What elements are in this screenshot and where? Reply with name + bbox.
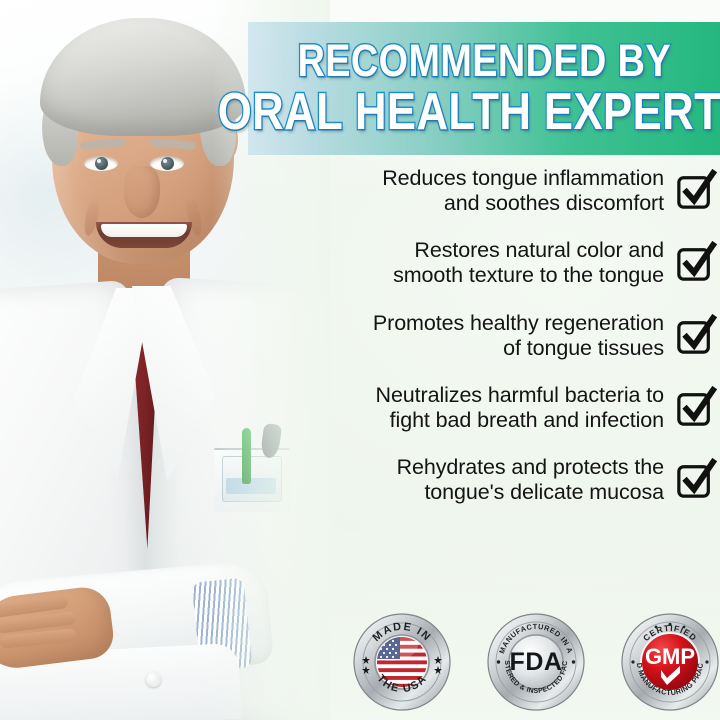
benefit-1-line-1: Reduces tongue inflammation <box>382 166 664 191</box>
benefit-text-5: Rehydrates and protects the tongue's del… <box>397 455 664 505</box>
benefit-5-line-2: tongue's delicate mucosa <box>397 480 664 505</box>
benefit-5-line-1: Rehydrates and protects the <box>397 455 664 480</box>
benefit-item-2: Restores natural color and smooth textur… <box>296 238 720 288</box>
benefit-text-1: Reduces tongue inflammation and soothes … <box>382 166 664 216</box>
infographic-canvas: Recommended by Oral Health Experts Reduc… <box>0 0 720 720</box>
benefit-3-line-1: Promotes healthy regeneration <box>373 311 664 336</box>
benefit-item-3: Promotes healthy regeneration of tongue … <box>296 311 720 361</box>
checkbox-checked-icon <box>676 317 714 355</box>
headline-banner: Recommended by Oral Health Experts <box>248 22 720 155</box>
checkbox-checked-icon <box>676 244 714 282</box>
benefit-1-line-2: and soothes discomfort <box>382 191 664 216</box>
checkbox-checked-icon <box>676 172 714 210</box>
gmp-seal-center-text: GMP <box>645 644 695 669</box>
benefit-text-3: Promotes healthy regeneration of tongue … <box>373 311 664 361</box>
benefits-list: Reduces tongue inflammation and soothes … <box>296 166 720 527</box>
checkbox-checked-icon <box>676 461 714 499</box>
doctor-smile <box>96 222 192 248</box>
fda-registered-seal: FDA MANUFACTURED IN A REGISTERED & INSPE… <box>486 612 586 712</box>
benefit-item-1: Reduces tongue inflammation and soothes … <box>296 166 720 216</box>
headline-line-1: Recommended by <box>297 39 670 83</box>
benefit-text-4: Neutralizes harmful bacteria to fight ba… <box>376 383 664 433</box>
fda-seal-center-text: FDA <box>510 648 563 676</box>
benefit-4-line-1: Neutralizes harmful bacteria to <box>376 383 664 408</box>
benefit-item-4: Neutralizes harmful bacteria to fight ba… <box>296 383 720 433</box>
benefit-2-line-1: Restores natural color and <box>393 238 664 263</box>
made-in-usa-seal: MADE IN THE USA <box>352 612 452 712</box>
headline-line-2: Oral Health Experts <box>218 87 720 138</box>
benefit-item-5: Rehydrates and protects the tongue's del… <box>296 455 720 505</box>
lab-coat-button <box>146 672 161 687</box>
checkbox-checked-icon <box>676 389 714 427</box>
trust-badge-row: MADE IN THE USA <box>352 608 720 716</box>
benefit-2-line-2: smooth texture to the tongue <box>393 263 664 288</box>
doctor-nose <box>124 166 160 218</box>
doctor-eye-right <box>150 156 184 171</box>
benefit-4-line-2: fight bad breath and infection <box>376 408 664 433</box>
benefit-text-2: Restores natural color and smooth textur… <box>393 238 664 288</box>
benefit-3-line-2: of tongue tissues <box>373 336 664 361</box>
gmp-certified-seal: GMP CERTIFIED GOOD MANUFACTURING PRACTIC… <box>620 612 720 712</box>
doctor-eye-left <box>84 156 118 171</box>
